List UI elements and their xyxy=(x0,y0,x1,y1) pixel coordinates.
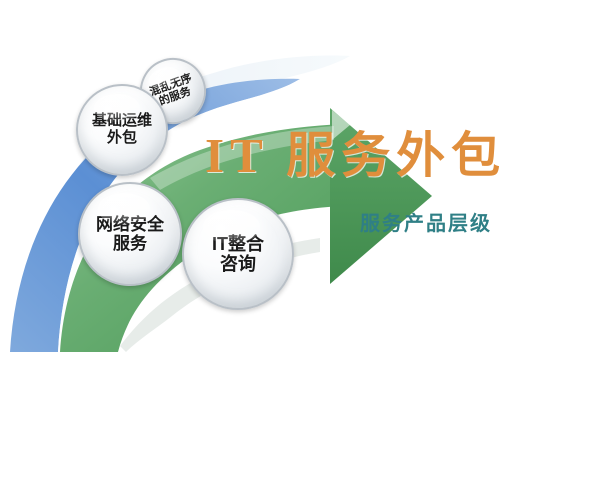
bubble-network-security-service[interactable]: 网络安全 服务 xyxy=(78,182,182,286)
bubble-line-2: 咨询 xyxy=(220,254,256,274)
bubble-network-security-text: 网络安全 服务 xyxy=(92,215,168,253)
bubble-line-1: 网络安全 xyxy=(96,215,164,234)
bubble-line-2: 外包 xyxy=(107,129,137,146)
page-title: IT 服务外包 xyxy=(205,116,506,187)
it-outsourcing-graphic: IT 服务外包 服务产品层级 混乱无序 的服务 基础运维 外包 网络安全 服务 … xyxy=(0,0,600,400)
advertisement-bar: 商业推广 it外包服务各种项目外包公司,高效的外包优化... xyxy=(0,400,600,500)
subtitle-service-tier: 服务产品层级 xyxy=(360,207,492,236)
bubble-it-consulting-text: IT整合 咨询 xyxy=(208,234,268,274)
bubble-basic-ops-text: 基础运维 外包 xyxy=(88,113,156,147)
bubble-line-2: 服务 xyxy=(113,234,147,253)
bubble-basic-ops-outsourcing[interactable]: 基础运维 外包 xyxy=(76,84,168,176)
bubble-line-1: IT整合 xyxy=(212,234,264,254)
screenshot-root: IT 服务外包 服务产品层级 混乱无序 的服务 基础运维 外包 网络安全 服务 … xyxy=(0,0,600,500)
bubble-it-integration-consulting[interactable]: IT整合 咨询 xyxy=(182,198,294,310)
bubble-line-1: 基础运维 xyxy=(92,112,152,129)
